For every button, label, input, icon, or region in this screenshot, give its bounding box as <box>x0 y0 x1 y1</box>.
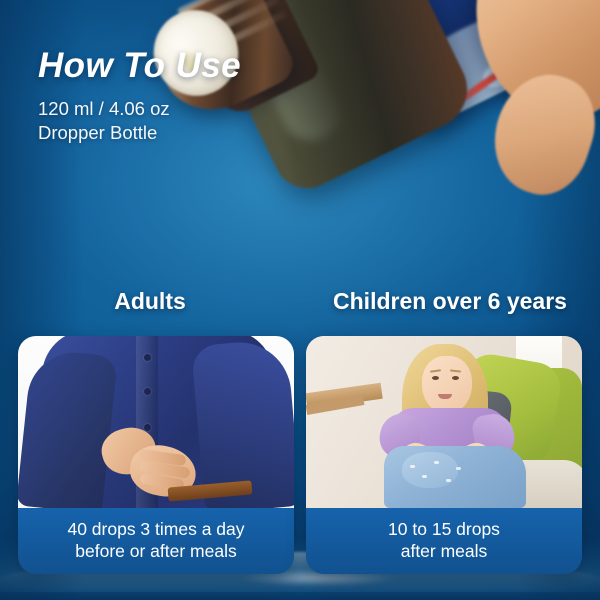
header-block: How To Use 120 ml / 4.06 oz Dropper Bott… <box>38 48 241 146</box>
ingredient-text: Milk Thistle <box>365 0 392 4</box>
girl-eye <box>432 376 439 380</box>
caption-line-2: before or after meals <box>26 540 286 562</box>
jeans-rip <box>434 461 439 464</box>
section-heading-children: Children over 6 years <box>300 288 600 315</box>
hand-holding-bottle <box>459 0 600 133</box>
girl-face <box>422 356 472 414</box>
subtitle-format: Dropper Bottle <box>38 121 241 145</box>
dosage-cards: 40 drops 3 times a day before or after m… <box>18 336 582 574</box>
jeans-rip <box>456 467 461 470</box>
page-subtitle: 120 ml / 4.06 oz Dropper Bottle <box>38 97 241 146</box>
caption-line-2: after meals <box>314 540 574 562</box>
section-heading-adults: Adults <box>0 288 300 315</box>
label-splash-dot <box>479 60 512 91</box>
jeans-rip <box>410 465 415 468</box>
caption-line-1: 10 to 15 drops <box>314 518 574 540</box>
shirt-button <box>144 388 151 395</box>
jeans-rip <box>446 479 451 482</box>
section-headings: Adults Children over 6 years <box>0 288 600 315</box>
photo-adult-man <box>18 336 294 508</box>
thumb <box>480 62 600 206</box>
subtitle-volume: 120 ml / 4.06 oz <box>38 97 241 121</box>
bottle-body <box>201 0 480 200</box>
bottle-label-ingredients: Artichoke Boldo Dandelion Milk Thistle <box>365 0 435 4</box>
girl-eye <box>452 376 459 380</box>
girl-knee <box>402 452 458 488</box>
dosage-card-adults: 40 drops 3 times a day before or after m… <box>18 336 294 574</box>
how-to-use-infographic: Artichoke Boldo Dandelion Milk Thistle H… <box>0 0 600 600</box>
photo-child-girl <box>306 336 582 508</box>
jeans-rip <box>422 475 427 478</box>
caption-line-1: 40 drops 3 times a day <box>26 518 286 540</box>
dosage-caption-adults: 40 drops 3 times a day before or after m… <box>18 508 294 574</box>
dosage-card-children: 10 to 15 drops after meals <box>306 336 582 574</box>
page-title: How To Use <box>38 48 241 85</box>
bottle-label-panel: Artichoke Boldo Dandelion Milk Thistle H… <box>344 0 600 129</box>
brand-name-text: Hepatalgina <box>486 0 600 41</box>
label-splash-graphic <box>384 0 588 129</box>
shirt-button <box>144 424 151 431</box>
shirt-button <box>144 354 151 361</box>
surface-edge <box>0 592 600 600</box>
label-red-stripe <box>418 0 600 129</box>
dosage-caption-children: 10 to 15 drops after meals <box>306 508 582 574</box>
